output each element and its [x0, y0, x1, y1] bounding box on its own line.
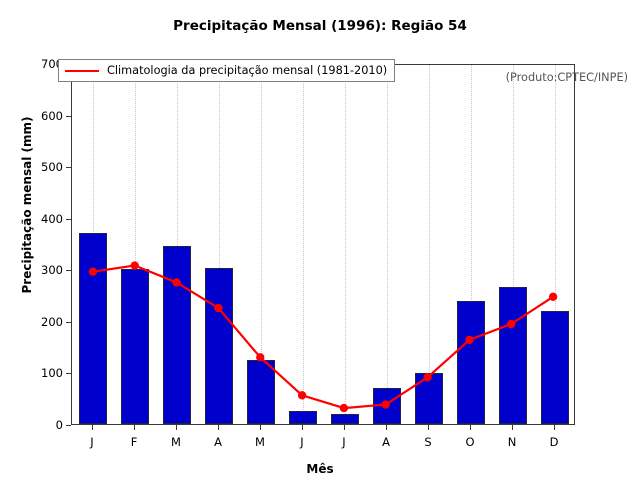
- y-tick-mark-0: [66, 425, 71, 426]
- y-tick-mark-200: [66, 322, 71, 323]
- x-tick-label-5: J: [287, 435, 317, 449]
- climatology-marker-m-4: [256, 353, 264, 361]
- x-tick-label-11: D: [539, 435, 569, 449]
- x-tick-label-2: M: [161, 435, 191, 449]
- y-tick-mark-300: [66, 270, 71, 271]
- legend-line-swatch: [65, 70, 99, 72]
- y-tick-mark-100: [66, 373, 71, 374]
- x-tick-mark-9: [470, 425, 471, 430]
- y-tick-label-400: 400: [29, 213, 63, 225]
- climatology-marker-f-1: [131, 261, 139, 269]
- y-tick-mark-400: [66, 219, 71, 220]
- x-tick-mark-8: [428, 425, 429, 430]
- x-tick-label-4: M: [245, 435, 275, 449]
- x-tick-mark-1: [134, 425, 135, 430]
- climatology-polyline: [93, 266, 553, 409]
- climatology-marker-j-6: [340, 404, 348, 412]
- y-tick-label-500: 500: [29, 161, 63, 173]
- x-tick-label-1: F: [119, 435, 149, 449]
- y-tick-label-300: 300: [29, 264, 63, 276]
- climatology-marker-a-3: [214, 304, 222, 312]
- climatology-marker-j-0: [89, 268, 97, 276]
- x-tick-label-9: O: [455, 435, 485, 449]
- x-tick-mark-4: [260, 425, 261, 430]
- x-tick-mark-7: [386, 425, 387, 430]
- climatology-marker-m-2: [172, 278, 180, 286]
- climatology-markers: [89, 261, 558, 412]
- x-tick-label-3: A: [203, 435, 233, 449]
- x-tick-mark-6: [344, 425, 345, 430]
- x-tick-label-0: J: [77, 435, 107, 449]
- x-tick-mark-2: [176, 425, 177, 430]
- climatology-marker-j-5: [298, 391, 306, 399]
- x-axis-label: Mês: [0, 462, 640, 476]
- climatology-line-layer: [72, 65, 574, 424]
- producer-note: (Produto:CPTEC/INPE): [506, 71, 628, 84]
- x-tick-mark-0: [92, 425, 93, 430]
- page-title: Precipitação Mensal (1996): Região 54: [0, 18, 640, 34]
- y-tick-label-100: 100: [29, 367, 63, 379]
- y-tick-mark-600: [66, 116, 71, 117]
- x-tick-label-10: N: [497, 435, 527, 449]
- x-tick-label-6: J: [329, 435, 359, 449]
- x-tick-label-8: S: [413, 435, 443, 449]
- climatology-marker-d-11: [549, 293, 557, 301]
- chart-figure: Precipitação Mensal (1996): Região 54 (P…: [0, 0, 640, 500]
- x-tick-mark-3: [218, 425, 219, 430]
- climatology-marker-a-7: [382, 400, 390, 408]
- climatology-marker-o-9: [465, 336, 473, 344]
- plot-area: [71, 64, 575, 425]
- x-tick-mark-5: [302, 425, 303, 430]
- legend-item-label: Climatologia da precipitação mensal (198…: [107, 64, 387, 77]
- climatology-marker-n-10: [507, 320, 515, 328]
- y-tick-label-600: 600: [29, 110, 63, 122]
- x-tick-mark-10: [512, 425, 513, 430]
- x-tick-label-7: A: [371, 435, 401, 449]
- chart-legend: Climatologia da precipitação mensal (198…: [58, 59, 395, 82]
- y-tick-label-0: 0: [29, 419, 63, 431]
- y-tick-label-200: 200: [29, 316, 63, 328]
- x-tick-mark-11: [554, 425, 555, 430]
- y-tick-mark-500: [66, 167, 71, 168]
- climatology-marker-s-8: [423, 373, 431, 381]
